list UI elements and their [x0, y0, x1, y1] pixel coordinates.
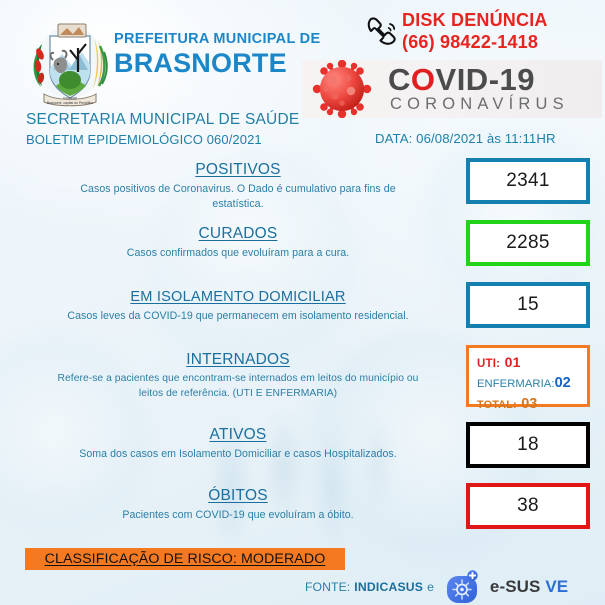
indicator-value: 2341	[506, 170, 549, 192]
indicator-text-isolamento: EM ISOLAMENTO DOMICILIAR Casos leves da …	[18, 288, 458, 324]
indicator-value: 38	[517, 495, 539, 517]
disk-denuncia-title: DISK DENÚNCIA	[402, 10, 548, 32]
indicator-value-box-curados: 2285	[466, 220, 590, 266]
svg-text:Brasnorte, capital do Pendrilh: Brasnorte, capital do Pendrilho	[47, 101, 93, 105]
disk-denuncia-phone: (66) 98422-1418	[402, 32, 548, 54]
indicator-text-curados: CURADOS Casos confirmados que evoluíram …	[18, 224, 458, 261]
indicator-title: ATIVOS	[18, 425, 458, 444]
esus-suffix: VE	[545, 577, 568, 596]
source-indicasus: INDICASUS	[354, 580, 423, 594]
covid19-logo-banner: COVID-19 CORONAVÍRUS	[302, 60, 602, 118]
indicator-value-box-obitos: 38	[466, 483, 590, 529]
coronavirus-subtitle: CORONAVÍRUS	[390, 96, 569, 113]
indicator-title: EM ISOLAMENTO DOMICILIAR	[18, 288, 458, 306]
indicator-description: Casos positivos de Coronavirus. O Dado é…	[18, 182, 458, 212]
source-label: FONTE:	[305, 580, 350, 594]
indicator-text-ativos: ATIVOS Soma dos casos em Isolamento Domi…	[18, 425, 458, 462]
indicator-title: INTERNADOS	[18, 350, 458, 369]
indicator-description: Casos leves da COVID-19 que permanecem e…	[18, 309, 458, 324]
secretary-name: SECRETARIA MUNICIPAL DE SAÚDE	[26, 110, 299, 131]
indicator-text-internados: INTERNADOS Refere-se a pacientes que enc…	[18, 350, 458, 402]
disk-denuncia-text: DISK DENÚNCIA (66) 98422-1418	[402, 10, 548, 54]
covid-prefix: C	[388, 62, 411, 97]
covid-o-letter: O	[411, 62, 436, 97]
coronavirus-illustration-icon	[304, 60, 382, 118]
esus-ve-wordmark: e-SUS VE	[490, 577, 568, 597]
indicator-description: Soma dos casos em Isolamento Domiciliar …	[18, 447, 458, 462]
indicator-value-box-isolamento: 15	[466, 282, 590, 328]
internados-total-line: TOTAL: 03	[477, 394, 587, 414]
phone-icon	[362, 12, 404, 54]
indicator-title: ÓBITOS	[18, 486, 458, 505]
enfermaria-value: 02	[555, 375, 571, 391]
indicator-value: 15	[517, 294, 539, 316]
indicator-value: 2285	[506, 232, 549, 254]
uti-label: UTI:	[477, 358, 500, 370]
internados-uti-line: UTI: 01	[477, 353, 587, 373]
bulletin-title: BOLETIM EPIDEMIOLÓGICO 060/2021	[26, 131, 299, 149]
enfermaria-label: ENFERMARIA:	[477, 378, 555, 390]
indicator-description: Pacientes com COVID-19 que evoluíram a ó…	[18, 508, 458, 523]
svg-text:03/09/86: 03/09/86	[63, 97, 77, 101]
indicator-value: 18	[517, 434, 539, 456]
city-title-line1: PREFEITURA MUNICIPAL DE	[114, 32, 344, 47]
indicator-title: POSITIVOS	[18, 160, 458, 179]
total-label: TOTAL:	[477, 399, 517, 411]
indicator-value-box-internados: UTI: 01 ENFERMARIA:02 TOTAL: 03	[466, 345, 590, 407]
esus-prefix: e-SUS	[490, 577, 541, 596]
brasnorte-coat-of-arms-icon: 03/09/86 Brasnorte, capital do Pendrilho	[26, 14, 114, 110]
indicator-description: Refere-se a pacientes que encontram-se i…	[18, 372, 458, 401]
indicator-description: Casos confirmados que evoluíram para a c…	[18, 246, 458, 261]
indicator-text-positivos: POSITIVOS Casos positivos de Coronavirus…	[18, 160, 458, 212]
risk-classification-banner: CLASSIFICAÇÃO DE RISCO: MODERADO	[25, 548, 345, 570]
source-credits: FONTE: INDICASUS e e-SUS VE	[305, 570, 568, 604]
uti-value: 01	[505, 354, 521, 370]
source-conjunction: e	[427, 580, 434, 594]
bulletin-heading: SECRETARIA MUNICIPAL DE SAÚDE BOLETIM EP…	[26, 110, 299, 148]
page-header: 03/09/86 Brasnorte, capital do Pendrilho…	[0, 0, 605, 120]
indicator-text-obitos: ÓBITOS Pacientes com COVID-19 que evoluí…	[18, 486, 458, 523]
covid19-wordmark: COVID-19	[388, 64, 535, 95]
disk-denuncia-block: DISK DENÚNCIA (66) 98422-1418	[362, 8, 602, 60]
bulletin-date: DATA: 06/08/2021 às 11:11HR	[375, 131, 556, 146]
covid-suffix: VID-19	[436, 62, 535, 97]
esus-ve-logo-icon	[441, 570, 485, 604]
total-value: 03	[521, 396, 537, 412]
internados-enfermaria-line: ENFERMARIA:02	[477, 373, 587, 393]
indicator-value-box-positivos: 2341	[466, 158, 590, 204]
risk-classification-text: CLASSIFICAÇÃO DE RISCO: MODERADO	[45, 551, 326, 567]
indicator-value-box-ativos: 18	[466, 422, 590, 468]
indicator-title: CURADOS	[18, 224, 458, 243]
